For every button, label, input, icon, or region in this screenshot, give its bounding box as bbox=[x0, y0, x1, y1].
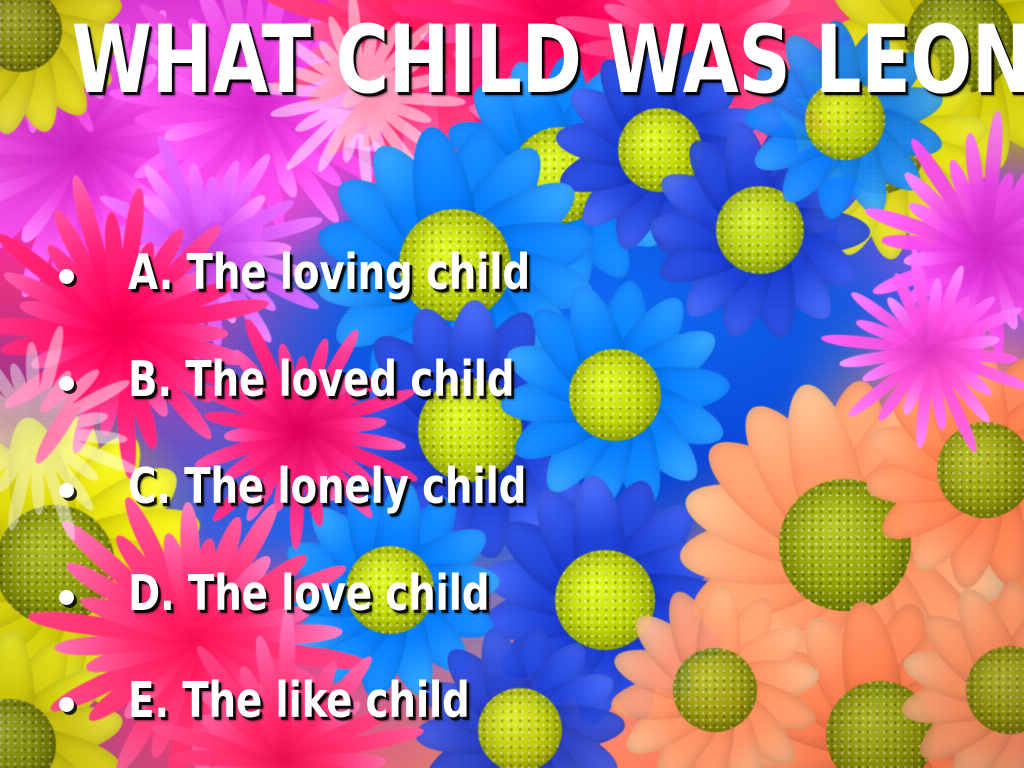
answer-option-a[interactable]: A. The loving child bbox=[0, 248, 640, 355]
answer-option-label: D. The love child bbox=[128, 569, 489, 618]
bullet-icon bbox=[59, 483, 74, 498]
bullet-icon bbox=[59, 697, 74, 712]
answer-option-label: A. The loving child bbox=[128, 248, 530, 297]
answer-option-d[interactable]: D. The love child bbox=[0, 569, 640, 676]
slide-title: WHAT CHILD WAS LEONARDO bbox=[72, 14, 953, 108]
answer-option-b[interactable]: B. The loved child bbox=[0, 355, 640, 462]
bullet-icon bbox=[59, 590, 74, 605]
bullet-icon bbox=[59, 269, 74, 284]
answer-option-label: B. The loved child bbox=[128, 355, 514, 404]
answer-options-list: A. The loving child B. The loved child C… bbox=[0, 248, 640, 768]
answer-option-c[interactable]: C. The lonely child bbox=[0, 462, 640, 569]
presentation-slide: WHAT CHILD WAS LEONARDO A. The loving ch… bbox=[0, 0, 1024, 768]
answer-option-label: C. The lonely child bbox=[128, 462, 526, 511]
answer-option-label: E. The like child bbox=[128, 676, 470, 725]
answer-option-e[interactable]: E. The like child bbox=[0, 676, 640, 768]
slide-content: WHAT CHILD WAS LEONARDO A. The loving ch… bbox=[0, 0, 1024, 768]
bullet-icon bbox=[59, 376, 74, 391]
